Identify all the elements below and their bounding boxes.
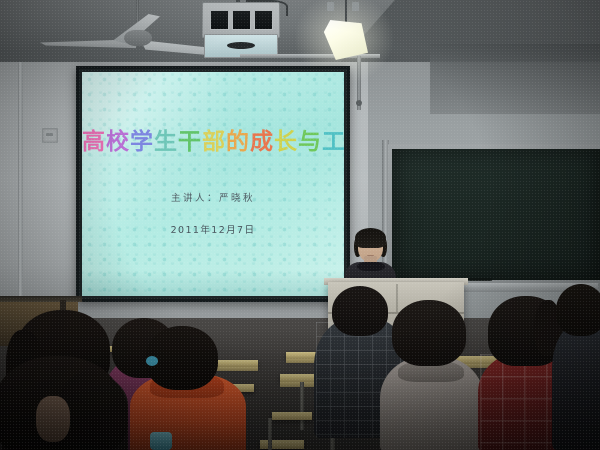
wall-switch-rocker-icon	[46, 133, 53, 136]
upper-right-wall-shadow	[430, 44, 600, 114]
speaker-collar	[357, 262, 385, 271]
projection-screen: 高校学生干部的成长与工作认识 主讲人：严晓秋 2011年12月7日	[76, 66, 350, 302]
slide-title-char-2: 学	[130, 130, 154, 154]
ceiling-projector	[202, 2, 280, 38]
wall-bracket-bolt	[356, 100, 362, 106]
podium-seam	[396, 284, 398, 312]
slide-title: 高校学生干部的成长与工作认识	[82, 130, 344, 154]
wall-conduit-pipe	[18, 62, 23, 312]
lamp-bracket	[327, 2, 334, 11]
hair-tie	[146, 356, 158, 366]
slide-title-char-6: 的	[226, 130, 250, 154]
audience-head	[392, 300, 466, 366]
wall-switch[interactable]	[42, 128, 58, 143]
audience-head	[332, 286, 388, 336]
slide-title-char-7: 成	[250, 130, 274, 154]
desk	[260, 440, 304, 449]
screen-glare	[82, 72, 344, 296]
desk-leg	[268, 418, 272, 450]
slide-date-line: 2011年12月7日	[82, 222, 344, 236]
lamp-bracket	[352, 2, 359, 11]
slide-title-char-9: 与	[298, 130, 322, 154]
speaker-hair	[355, 228, 386, 248]
blackboard-surface	[392, 149, 600, 280]
projected-slide: 高校学生干部的成长与工作认识 主讲人：严晓秋 2011年12月7日	[82, 72, 344, 296]
audience-torso	[552, 324, 600, 450]
projector-lens-icon	[227, 42, 255, 49]
slide-title-char-10: 工	[322, 130, 344, 154]
lamp-suspension-wire	[345, 0, 347, 22]
cabinet-top-edge	[0, 296, 82, 302]
projector-vent-icon	[232, 10, 251, 30]
slide-title-char-8: 长	[274, 130, 298, 154]
slide-presenter-line: 主讲人：严晓秋	[82, 190, 344, 204]
audience-ear-and-neck	[36, 396, 70, 442]
blue-water-bottle	[150, 432, 172, 450]
projector-vent-icon	[254, 10, 273, 30]
blackboard	[388, 144, 600, 292]
slide-title-char-1: 校	[106, 130, 130, 154]
ceiling-fan-hub	[124, 30, 152, 46]
screen-bottom-shadow	[82, 270, 344, 296]
slide-title-char-5: 部	[202, 130, 226, 154]
chalk-eraser	[468, 278, 492, 281]
desk	[272, 412, 312, 420]
slide-title-char-3: 生	[154, 130, 178, 154]
slide-title-char-0: 高	[82, 130, 106, 154]
audience-head	[556, 284, 600, 336]
desk-leg	[300, 382, 304, 430]
projector-vent-icon	[210, 10, 229, 30]
slide-title-char-4: 干	[178, 130, 202, 154]
classroom-photo: 高校学生干部的成长与工作认识 主讲人：严晓秋 2011年12月7日	[0, 0, 600, 450]
